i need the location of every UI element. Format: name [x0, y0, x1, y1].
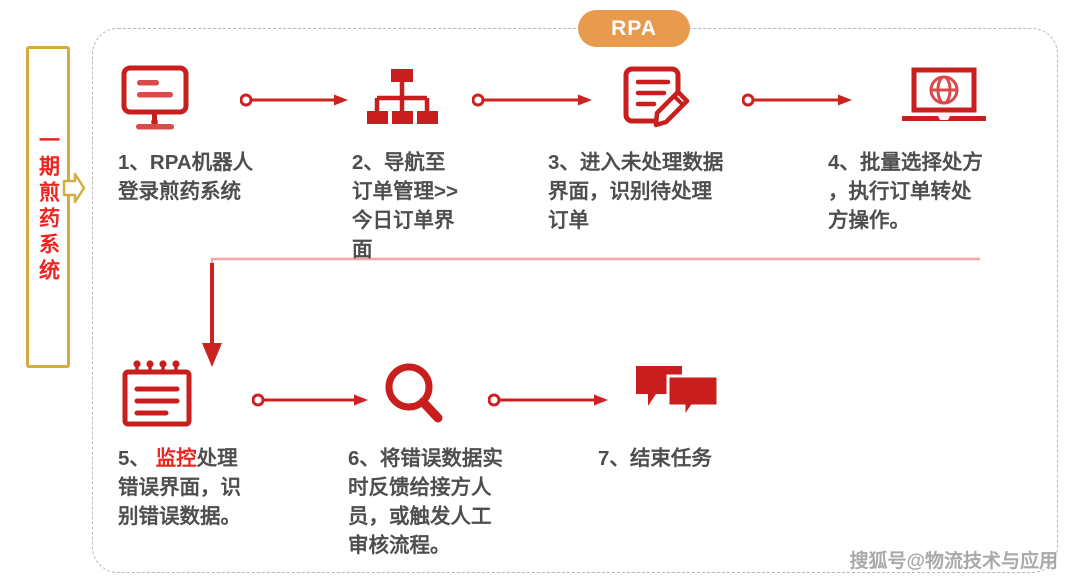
phase-label-box: 一期煎药系统: [26, 46, 70, 368]
document-edit-icon: [548, 62, 798, 134]
connector-4-to-5: [190, 255, 990, 375]
step-5-label-before: 5、: [118, 447, 156, 470]
step-3-label: 3、进入未处理数据 界面，识别待处理 订单: [548, 148, 798, 235]
phase-arrow-icon: [62, 170, 86, 206]
magnifier-icon: [348, 358, 548, 430]
step-1-label: 1、RPA机器人 登录煎药系统: [118, 148, 328, 206]
step-5-label: 5、 监控处理 错误界面，识 别错误数据。: [118, 444, 298, 531]
laptop-globe-icon: [828, 62, 1068, 134]
step-1[interactable]: 1、RPA机器人 登录煎药系统: [118, 62, 328, 206]
monitor-icon: [118, 62, 328, 134]
step-3[interactable]: 3、进入未处理数据 界面，识别待处理 订单: [548, 62, 798, 235]
step-6[interactable]: 6、将错误数据实 时反馈给接方人 员，或触发人工 审核流程。: [348, 358, 548, 560]
step-7[interactable]: 7、结束任务: [598, 358, 778, 473]
rpa-badge: RPA: [578, 10, 690, 47]
sitemap-icon: [352, 62, 522, 134]
step-5[interactable]: 5、 监控处理 错误界面，识 别错误数据。: [118, 358, 298, 531]
phase-label-text: 一期煎药系统: [29, 49, 67, 365]
step-6-label: 6、将错误数据实 时反馈给接方人 员，或触发人工 审核流程。: [348, 444, 548, 560]
step-7-label: 7、结束任务: [598, 444, 778, 473]
step-2-label: 2、导航至 订单管理>> 今日订单界 面: [352, 148, 522, 264]
step-5-label-highlight: 监控: [156, 447, 197, 470]
step-4[interactable]: 4、批量选择处方 ，执行订单转处 方操作。: [828, 62, 1068, 235]
watermark: 搜狐号@物流技术与应用: [849, 546, 1058, 573]
chat-bubbles-icon: [598, 358, 778, 430]
step-2[interactable]: 2、导航至 订单管理>> 今日订单界 面: [352, 62, 522, 264]
notepad-icon: [118, 358, 298, 430]
step-4-label: 4、批量选择处方 ，执行订单转处 方操作。: [828, 148, 1068, 235]
